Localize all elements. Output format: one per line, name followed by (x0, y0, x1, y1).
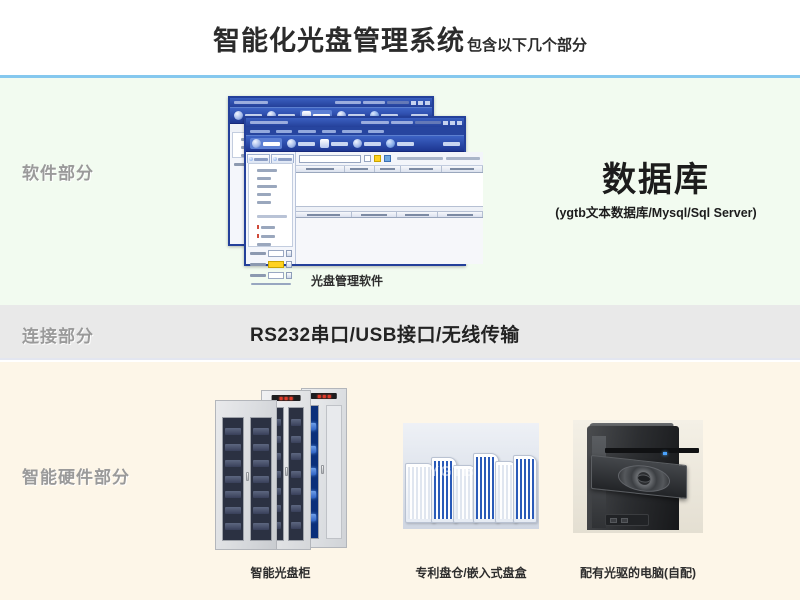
caption-computer: 配有光驱的电脑(自配) (560, 564, 716, 581)
app-window-front[interactable] (244, 116, 466, 266)
maximize-icon[interactable] (418, 101, 423, 105)
search-input[interactable] (299, 155, 361, 163)
status-text-2 (446, 157, 480, 160)
minimize-icon-front[interactable] (443, 121, 448, 125)
window-body-front (246, 152, 464, 264)
window-toolbar-front (246, 135, 464, 152)
caption-software: 光盘管理软件 (228, 272, 466, 289)
column-header-2[interactable] (345, 166, 375, 172)
section-label-connection: 连接部分 (22, 322, 94, 347)
menu-item-file[interactable] (361, 121, 389, 124)
tree-item[interactable] (257, 193, 289, 196)
page-subtitle: 包含以下几个部分 (467, 34, 587, 55)
cabinet-handle-right (321, 465, 324, 474)
tree-item-required[interactable] (257, 234, 289, 238)
section-label-software: 软件部分 (22, 159, 94, 184)
toolbar-button-report[interactable] (386, 139, 414, 148)
cabinet-handle-middle (285, 467, 288, 476)
infographic-page: 智能化光盘管理系统 包含以下几个部分 软件部分 (0, 0, 800, 600)
tree-item[interactable] (257, 243, 289, 246)
window-title-text (234, 101, 268, 104)
maximize-icon-front[interactable] (450, 121, 455, 125)
toolbar-button-disc-in[interactable] (250, 138, 282, 149)
detail-grid-body[interactable] (296, 218, 483, 264)
database-title: 数据库 (520, 163, 792, 199)
header-title-group: 智能化光盘管理系统 包含以下几个部分 (213, 19, 587, 58)
close-icon-front[interactable] (457, 121, 462, 125)
tree-list-front[interactable] (248, 163, 293, 247)
tree-item[interactable] (257, 169, 289, 172)
cabinet-glass-door-left-1 (222, 417, 244, 541)
database-block: 数据库 (ygtb文本数据库/Mysql/Sql Server) (520, 163, 792, 221)
tree-item[interactable] (257, 177, 289, 180)
photo-disc-cartridges: YGTB (403, 423, 539, 529)
status-text-1 (397, 157, 443, 160)
pc-front-ports (605, 514, 649, 526)
cabinet-handle-left (246, 472, 249, 481)
column-header-4[interactable] (401, 166, 442, 172)
right-pane-front (296, 152, 483, 264)
watermark: YGTB (429, 463, 475, 480)
disc-spindle (637, 474, 651, 483)
toolbar-button-disc-out[interactable] (287, 139, 315, 148)
cabinet-panel-right (326, 405, 342, 539)
connection-methods-text: RS232串口/USB接口/无线传输 (250, 320, 570, 347)
menu-item-3[interactable] (387, 101, 409, 104)
pc-drive-slot (605, 448, 699, 453)
cabinet-glass-door-middle-right (288, 407, 304, 541)
window-menubar-front[interactable] (246, 127, 464, 135)
close-icon[interactable] (425, 101, 430, 105)
menu-item-2[interactable] (363, 101, 385, 104)
cartridge (513, 455, 537, 523)
cabinet-glass-door-left-2 (250, 417, 272, 541)
page-header: 智能化光盘管理系统 包含以下几个部分 (0, 0, 800, 76)
window-titlebar (230, 98, 432, 107)
left-tab-1[interactable] (247, 154, 270, 163)
database-subtitle: (ygtb文本数据库/Mysql/Sql Server) (520, 202, 792, 221)
section-label-hardware: 智能硬件部分 (22, 463, 130, 488)
search-icon[interactable] (364, 155, 371, 162)
toolbar-button-quit[interactable] (443, 142, 460, 146)
disc-tray-well (618, 463, 670, 494)
data-grid-body[interactable] (296, 173, 483, 206)
pc-power-led (663, 452, 667, 455)
tree-item-required[interactable] (257, 225, 289, 229)
left-tab-2[interactable] (271, 154, 294, 163)
folder-icon[interactable] (384, 155, 391, 162)
filter-icon[interactable] (374, 155, 381, 162)
toolbar-button-system[interactable] (353, 139, 381, 148)
cabinet-left (215, 400, 277, 550)
page-title: 智能化光盘管理系统 (213, 19, 465, 58)
left-pane-front (246, 152, 296, 264)
menu-item-help[interactable] (415, 121, 441, 124)
tree-item[interactable] (257, 201, 289, 204)
data-grid-header (296, 166, 483, 173)
form-row-1[interactable] (250, 250, 292, 257)
menu-item-1[interactable] (335, 101, 361, 104)
caption-cartridges: 专利盘仓/嵌入式盘盒 (388, 564, 554, 581)
tree-item[interactable] (257, 185, 289, 188)
window-controls-front[interactable] (443, 121, 462, 125)
toolbar-button-disc-query[interactable] (320, 139, 348, 148)
photo-smart-disc-cabinet (213, 382, 348, 550)
search-bar (296, 152, 483, 166)
column-header-5[interactable] (442, 166, 483, 172)
cabinet-led-display-right (311, 393, 337, 399)
window-title-text-front (250, 121, 288, 124)
photo-computer-with-optical-drive (573, 420, 703, 533)
column-header-3[interactable] (375, 166, 401, 172)
caption-cabinet: 智能光盘柜 (213, 564, 348, 581)
tree-note (257, 215, 287, 218)
window-titlebar-front (246, 118, 464, 127)
software-screenshot (228, 96, 466, 266)
form-row-highlighted[interactable] (250, 261, 292, 268)
column-header-1[interactable] (296, 166, 345, 172)
left-pane-tabs[interactable] (246, 152, 295, 163)
minimize-icon[interactable] (411, 101, 416, 105)
window-controls[interactable] (411, 101, 430, 105)
menu-item-view[interactable] (391, 121, 413, 124)
